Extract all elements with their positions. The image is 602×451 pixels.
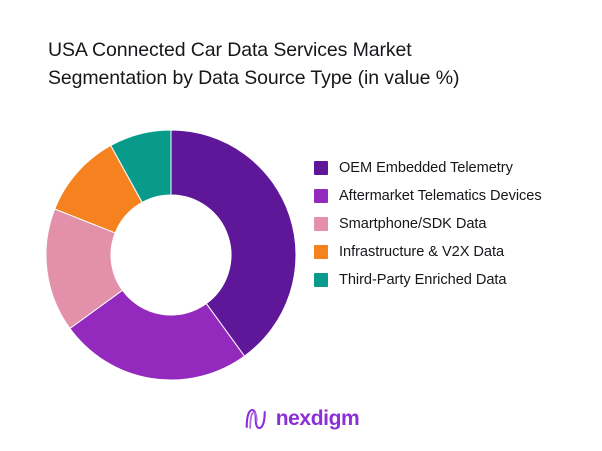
donut-chart-svg [46,130,296,380]
legend-item-label: Third-Party Enriched Data [339,270,506,290]
legend-item-label: Infrastructure & V2X Data [339,242,504,262]
brand-wordmark: nexdigm [276,407,360,431]
legend-item-label: OEM Embedded Telemetry [339,158,513,178]
legend-item[interactable]: Aftermarket Telematics Devices [314,186,584,206]
legend-swatch-icon [314,217,328,231]
brand-logo: nexdigm [243,406,360,432]
donut-slice-group [46,130,296,380]
legend-item[interactable]: OEM Embedded Telemetry [314,158,584,178]
legend-item[interactable]: Infrastructure & V2X Data [314,242,584,262]
donut-chart [46,130,296,380]
legend-item[interactable]: Third-Party Enriched Data [314,270,584,290]
nexdigm-n-mark-icon [243,406,269,432]
legend-swatch-icon [314,161,328,175]
legend-swatch-icon [314,189,328,203]
chart-legend: OEM Embedded TelemetryAftermarket Telema… [314,158,584,298]
legend-item[interactable]: Smartphone/SDK Data [314,214,584,234]
legend-item-label: Smartphone/SDK Data [339,214,487,234]
legend-swatch-icon [314,273,328,287]
page-title: USA Connected Car Data Services Market S… [48,36,548,92]
legend-swatch-icon [314,245,328,259]
chart-page: USA Connected Car Data Services Market S… [0,0,602,451]
legend-item-label: Aftermarket Telematics Devices [339,186,542,206]
